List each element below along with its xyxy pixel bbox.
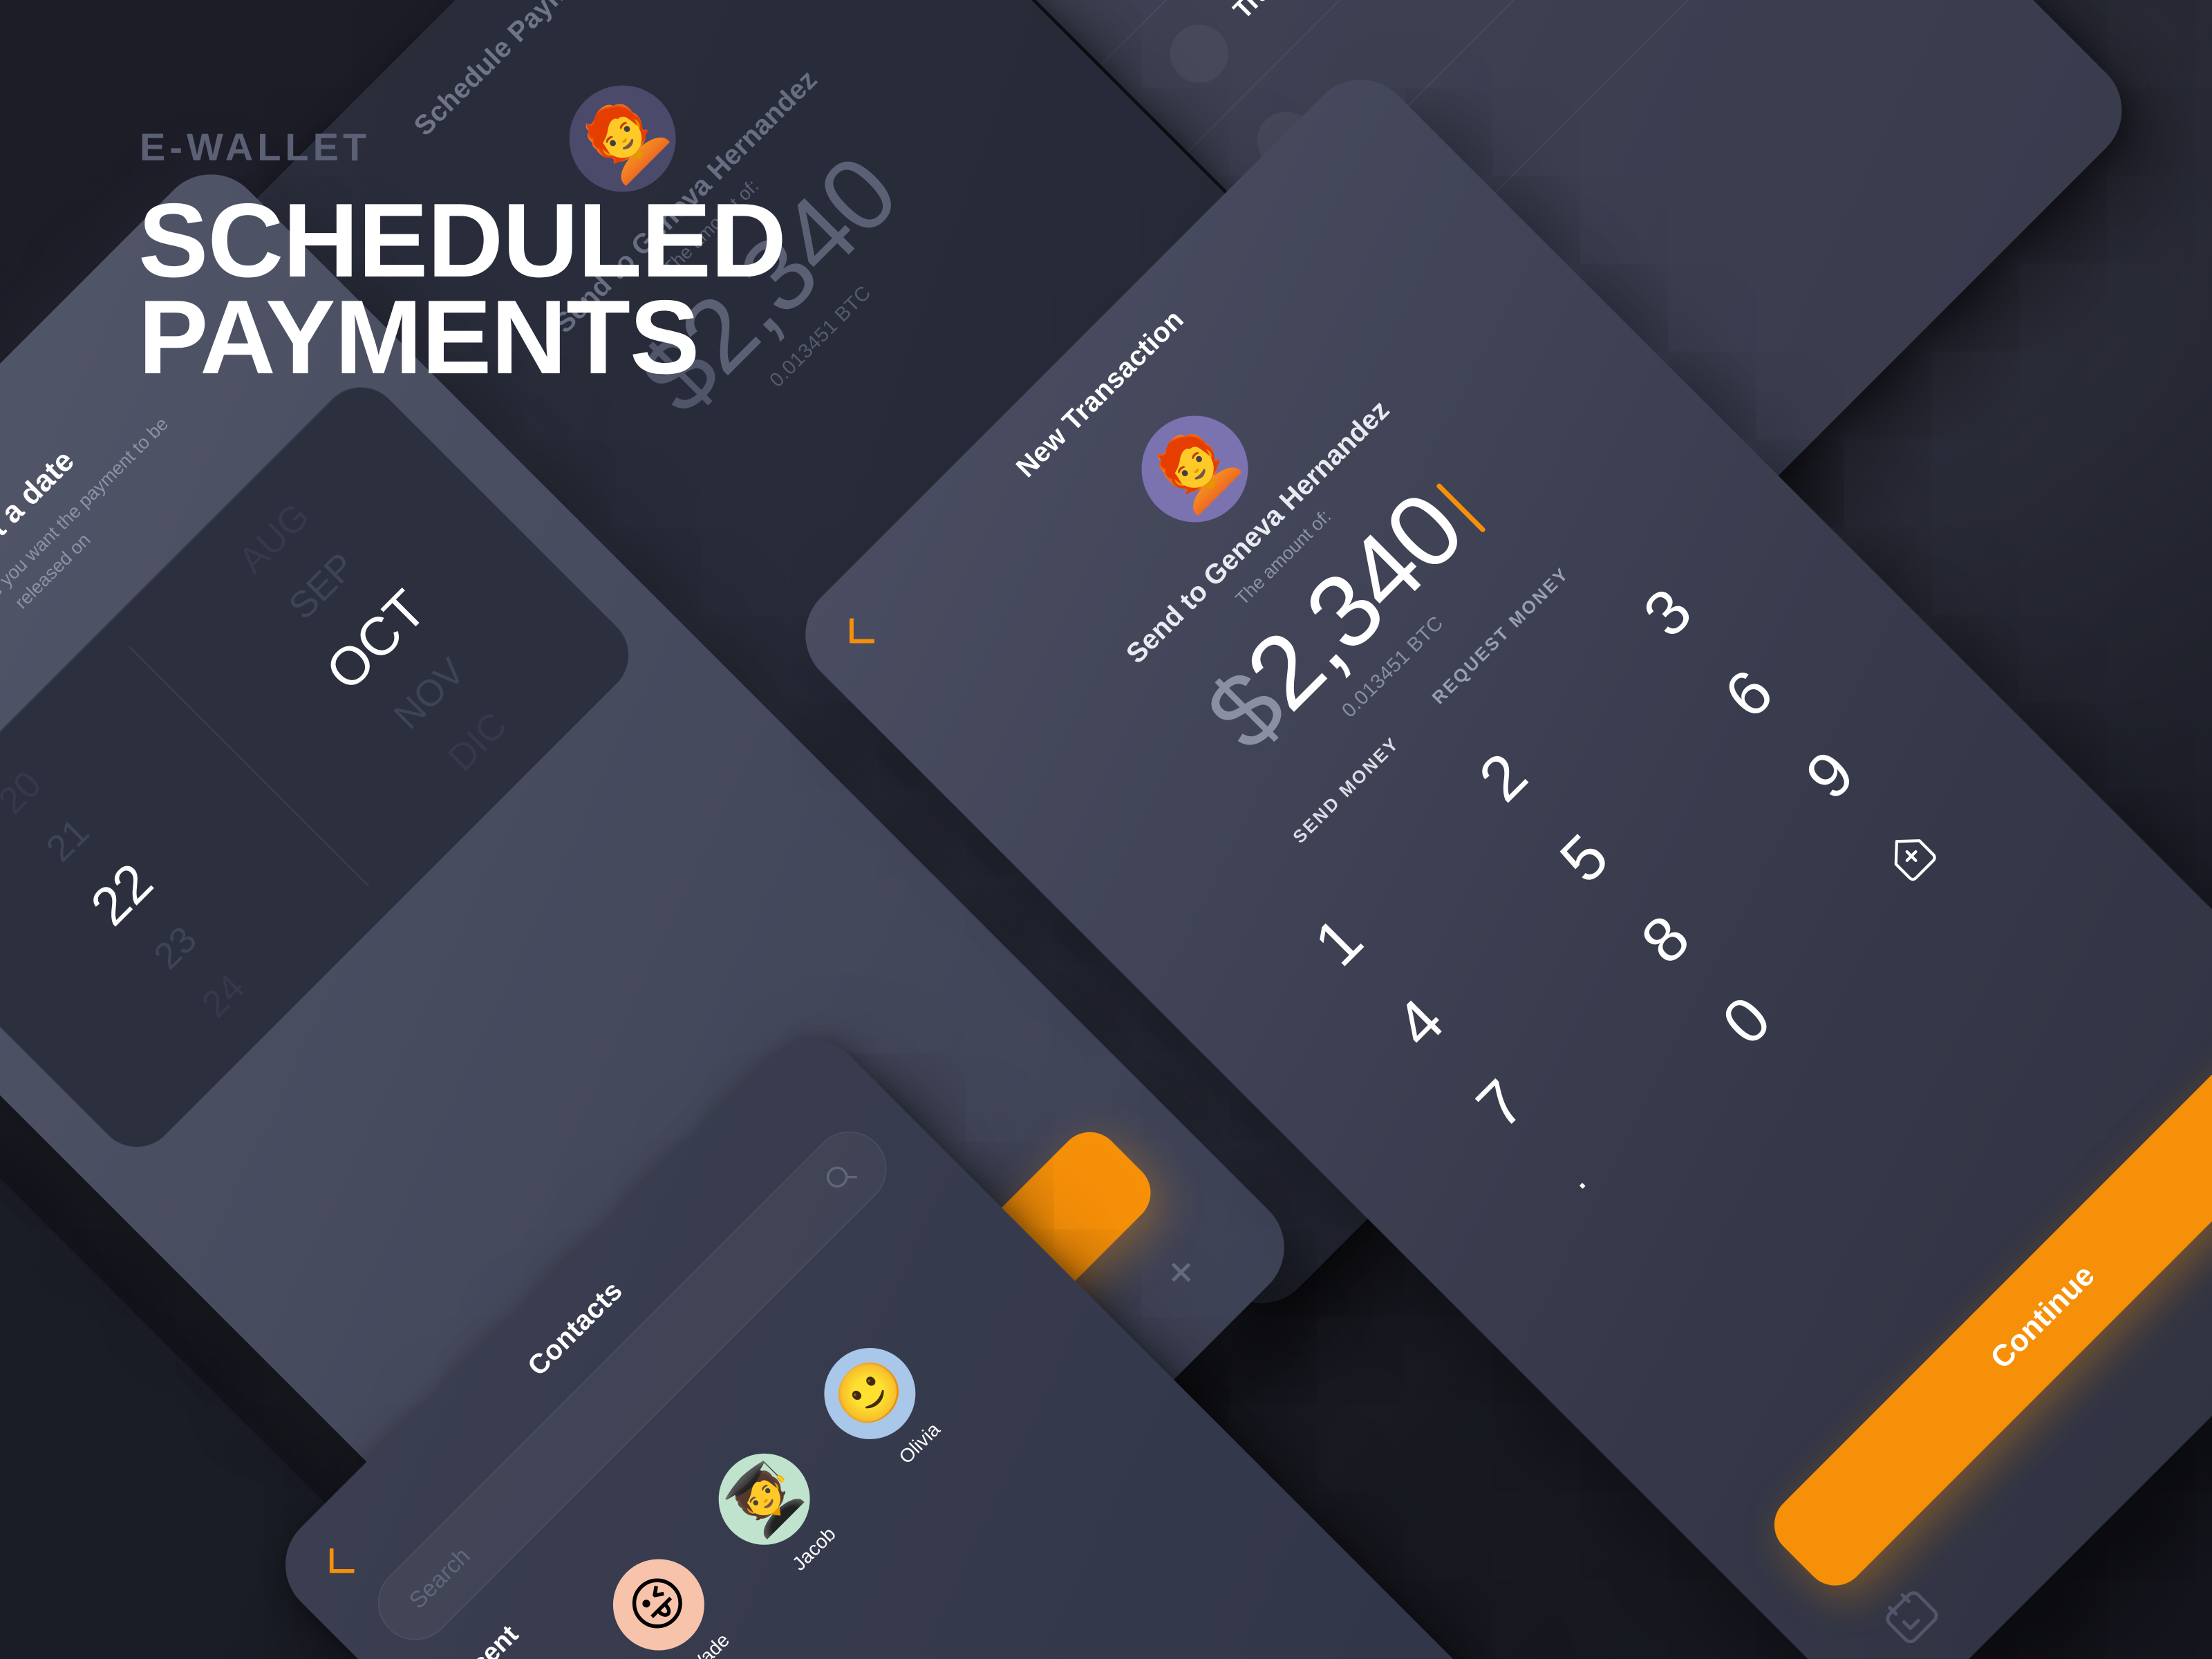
- category-dot-icon: [1158, 12, 1240, 95]
- title-line-2: PAYMENTS: [138, 290, 786, 386]
- search-icon[interactable]: [816, 1154, 864, 1202]
- page-title: SCHEDULED PAYMENTS: [138, 193, 786, 386]
- search-placeholder: Search: [404, 1543, 476, 1615]
- back-arrow-icon[interactable]: [841, 608, 885, 653]
- plus-icon[interactable]: +: [1138, 1230, 1223, 1314]
- composition-stage: Transportation Travels Schedule Payment …: [0, 0, 2212, 1659]
- amount-value[interactable]: $2,340: [1188, 462, 1492, 767]
- title-line-1: SCHEDULED: [138, 193, 786, 290]
- category-dot-icon: [1071, 0, 1154, 8]
- calendar-clock-icon[interactable]: [1873, 1577, 1951, 1656]
- headline-block: E-WALLET SCHEDULED PAYMENTS: [138, 124, 786, 386]
- brand-eyebrow: E-WALLET: [140, 124, 786, 169]
- avatar: 😜: [594, 1540, 724, 1659]
- back-arrow-icon[interactable]: [321, 1538, 366, 1583]
- category-label: Travels: [1228, 0, 1313, 25]
